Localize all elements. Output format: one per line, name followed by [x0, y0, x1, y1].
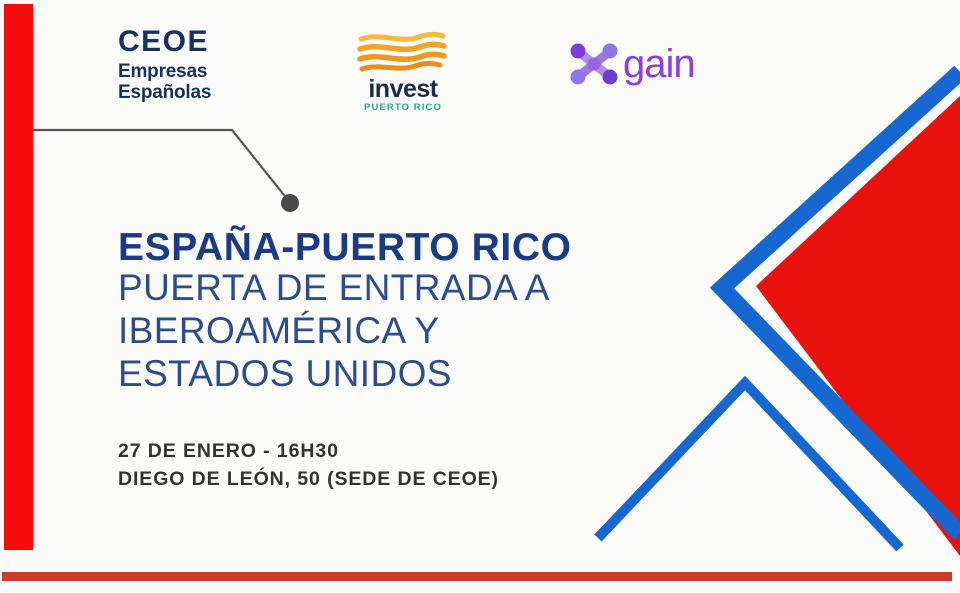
pointer-line [33, 130, 288, 200]
headline-title: ESPAÑA-PUERTO RICO [118, 228, 678, 267]
invest-waves-icon [355, 30, 447, 76]
headline-subtitle-line-1: PUERTA DE ENTRADA A [118, 267, 678, 310]
event-location: DIEGO DE LEÓN, 50 (SEDE DE CEOE) [118, 465, 638, 493]
ceoe-subtitle: Empresas Españolas [118, 61, 248, 104]
event-banner: CEOE Empresas Españolas invest PUERTO RI… [0, 0, 960, 593]
headline-subtitle-line-2: IBEROAMÉRICA Y [118, 310, 678, 353]
ceoe-wordmark: CEOE [118, 27, 248, 57]
ceoe-subtitle-line1: Empresas [118, 61, 248, 82]
ceoe-subtitle-line2: Españolas [118, 82, 248, 103]
logo-row: CEOE Empresas Españolas invest PUERTO RI… [0, 0, 760, 130]
invest-puerto-rico-logo: invest PUERTO RICO [355, 30, 451, 113]
pointer-dot [281, 194, 299, 212]
bottom-red-strip [2, 572, 952, 581]
ceoe-logo: CEOE Empresas Españolas [118, 27, 248, 104]
invest-wordmark: invest [355, 77, 451, 102]
invest-subtitle: PUERTO RICO [355, 103, 451, 113]
gain-logo: gain [567, 40, 695, 88]
gain-dots-icon [567, 40, 621, 88]
gain-wordmark: gain [623, 44, 695, 84]
headline-block: ESPAÑA-PUERTO RICO PUERTA DE ENTRADA A I… [118, 228, 678, 396]
event-date-time: 27 DE ENERO - 16H30 [118, 437, 638, 465]
headline-subtitle-line-3: ESTADOS UNIDOS [118, 353, 678, 396]
event-details: 27 DE ENERO - 16H30 DIEGO DE LEÓN, 50 (S… [118, 437, 638, 494]
